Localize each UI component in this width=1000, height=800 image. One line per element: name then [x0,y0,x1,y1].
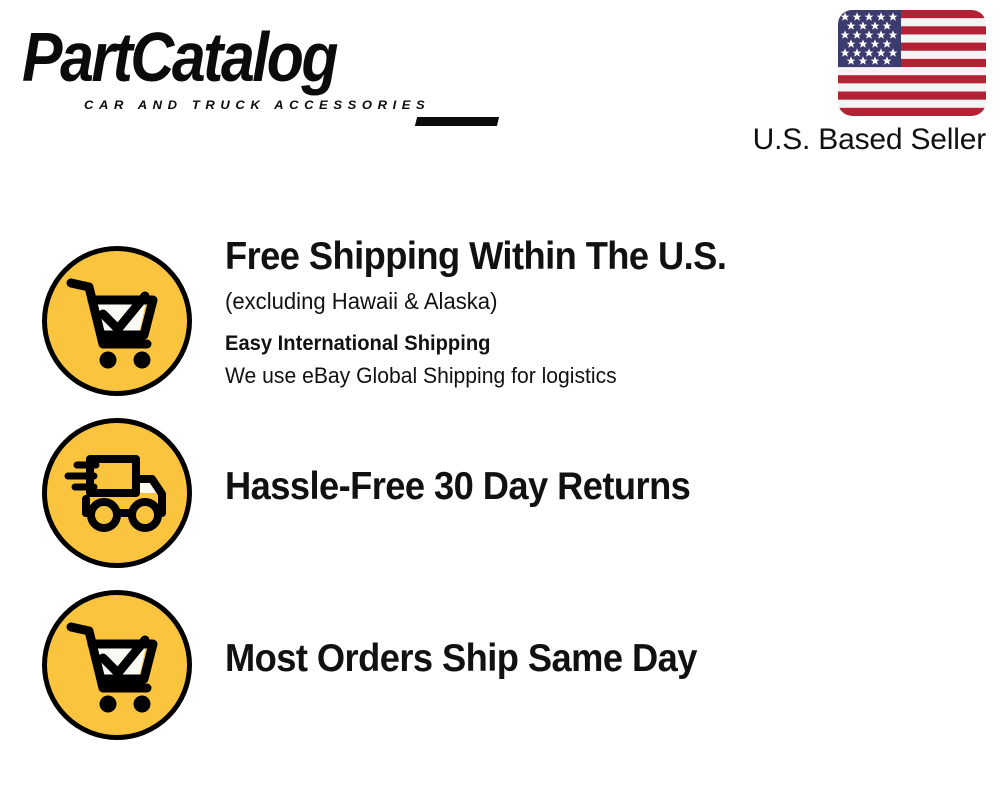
feature-text-block: Most Orders Ship Same Day [225,590,1000,682]
feature-row: Most Orders Ship Same Day [0,590,1000,745]
delivery-truck-icon [42,418,192,568]
feature-sub-title: Easy International Shipping [225,330,969,358]
brand-logo[interactable]: PartCatalog CAR AND TRUCK ACCESSORIES [22,24,492,114]
us-based-seller-badge: U.S. Based Seller [716,10,986,157]
feature-heading: Free Shipping Within The U.S. [225,234,946,280]
brand-wordmark: PartCatalog [22,24,483,93]
feature-sub-note: We use eBay Global Shipping for logistic… [225,361,969,390]
feature-note: (excluding Hawaii & Alaska) [225,286,969,316]
brand-underline-swoosh [415,117,499,126]
feature-row: Hassle-Free 30 Day Returns [0,418,1000,573]
feature-text-block: Free Shipping Within The U.S. (excluding… [225,232,1000,390]
feature-row: Free Shipping Within The U.S. (excluding… [0,232,1000,417]
feature-icon-container [42,590,197,740]
us-based-seller-label: U.S. Based Seller [716,123,986,157]
us-flag-icon [838,10,986,116]
feature-icon-container [42,418,197,568]
shopping-cart-check-icon [42,246,192,396]
shopping-cart-check-icon [42,590,192,740]
feature-heading: Most Orders Ship Same Day [225,636,946,682]
feature-text-block: Hassle-Free 30 Day Returns [225,418,1000,510]
feature-icon-container [42,246,197,396]
brand-tagline: CAR AND TRUCK ACCESSORIES [84,98,430,112]
feature-heading: Hassle-Free 30 Day Returns [225,464,946,510]
page-header: PartCatalog CAR AND TRUCK ACCESSORIES [0,0,1000,170]
